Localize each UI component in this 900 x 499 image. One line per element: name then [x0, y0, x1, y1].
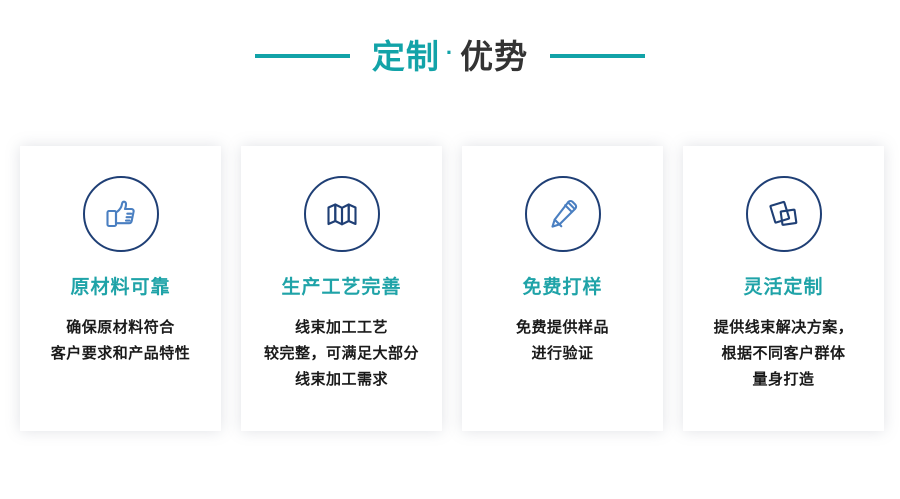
- rule-left-decoration: [255, 54, 350, 58]
- card-description: 免费提供样品 进行验证: [473, 315, 653, 367]
- advantage-card[interactable]: 原材料可靠 确保原材料符合 客户要求和产品特性: [20, 146, 221, 431]
- rule-right-decoration: [550, 54, 645, 58]
- advantage-card[interactable]: 灵活定制 提供线束解决方案， 根据不同客户群体 量身打造: [683, 146, 884, 431]
- card-title: 免费打样: [522, 278, 602, 297]
- stacked-cards-icon: [746, 176, 822, 252]
- card-description-line: 较完整，可满足大部分: [252, 341, 432, 367]
- card-title: 原材料可靠: [70, 278, 170, 297]
- advantage-card[interactable]: 生产工艺完善 线束加工工艺 较完整，可满足大部分 线束加工需求: [241, 146, 442, 431]
- customization-advantages-page: 定制 · 优势 原材料可靠 确保原材料符合 客户要求和产品特性: [0, 0, 900, 499]
- card-description-line: 进行验证: [473, 341, 653, 367]
- card-description-line: 确保原材料符合: [31, 315, 211, 341]
- card-description-line: 提供线束解决方案，: [694, 315, 874, 341]
- page-title-accent: 定制: [372, 40, 440, 73]
- section-header: 定制 · 优势: [0, 28, 900, 84]
- card-description: 确保原材料符合 客户要求和产品特性: [31, 315, 211, 367]
- pencil-icon: [525, 176, 601, 252]
- page-title: 定制 · 优势: [372, 40, 528, 73]
- advantage-card[interactable]: 免费打样 免费提供样品 进行验证: [462, 146, 663, 431]
- card-description-line: 量身打造: [694, 367, 874, 393]
- folded-map-icon: [304, 176, 380, 252]
- card-description-line: 客户要求和产品特性: [31, 341, 211, 367]
- card-description-line: 线束加工需求: [252, 367, 432, 393]
- card-description-line: 免费提供样品: [473, 315, 653, 341]
- card-description: 提供线束解决方案， 根据不同客户群体 量身打造: [694, 315, 874, 392]
- card-description: 线束加工工艺 较完整，可满足大部分 线束加工需求: [252, 315, 432, 392]
- card-title: 生产工艺完善: [281, 278, 401, 297]
- card-description-line: 线束加工工艺: [252, 315, 432, 341]
- card-description-line: 根据不同客户群体: [694, 341, 874, 367]
- page-title-main: 优势: [460, 40, 528, 73]
- card-title: 灵活定制: [743, 278, 823, 297]
- page-title-separator: ·: [442, 42, 458, 64]
- thumbs-up-icon: [83, 176, 159, 252]
- advantage-card-list: 原材料可靠 确保原材料符合 客户要求和产品特性 生产工艺完善 线束加工工艺 较完…: [20, 146, 884, 431]
